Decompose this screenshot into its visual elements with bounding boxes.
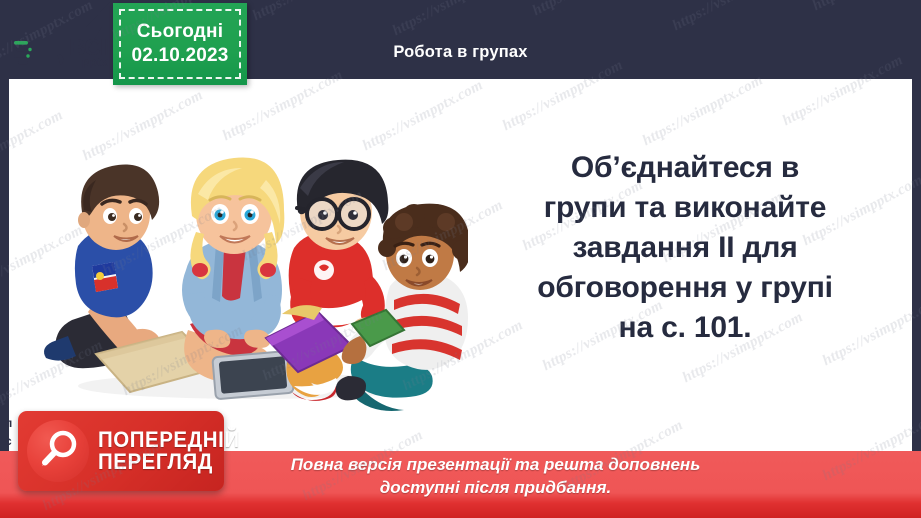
preview-badge-text: ПОПЕРЕДНІЙ ПЕРЕГЛЯД <box>98 429 250 473</box>
date-badge-value: 02.10.2023 <box>131 44 228 68</box>
purchase-notice-line-1: Повна версія презентації та решта доповн… <box>291 454 701 476</box>
watermark-text: https://vsimpptx.com <box>810 0 921 15</box>
graduation-cap-icon <box>14 33 66 73</box>
watermark-text: https://vsimpptx.com <box>530 0 656 20</box>
magnifier-icon <box>36 429 80 473</box>
main-text-block: Об’єднайтеся в групи та виконайте завдан… <box>470 148 900 347</box>
preview-badge-line-1: ПОПЕРЕДНІЙ <box>98 429 240 451</box>
preview-badge-line-2: ПЕРЕГЛЯД <box>98 451 240 473</box>
presentation-slide: Об’єднайтеся в групи та виконайте завдан… <box>0 0 921 518</box>
main-text-line-5: на с. 101. <box>470 308 900 348</box>
main-text-line-4: обговорення у групі <box>470 268 900 308</box>
main-text-line-2: групи та виконайте <box>470 188 900 228</box>
main-text-line-3: завдання II для <box>470 228 900 268</box>
today-date-badge: Сьогодні 02.10.2023 <box>113 3 247 85</box>
group-work-illustration <box>38 118 468 418</box>
main-text-line-1: Об’єднайтеся в <box>470 148 900 188</box>
preview-badge[interactable]: ПОПЕРЕДНІЙ ПЕРЕГЛЯД <box>18 411 224 491</box>
purchase-notice-line-2: доступні після придбання. <box>380 477 611 499</box>
preview-icon-circle <box>27 420 89 482</box>
date-badge-label: Сьогодні <box>137 20 223 44</box>
child-girl-blonde <box>182 157 294 399</box>
watermark-text: https://vsimpptx.com <box>250 0 376 25</box>
